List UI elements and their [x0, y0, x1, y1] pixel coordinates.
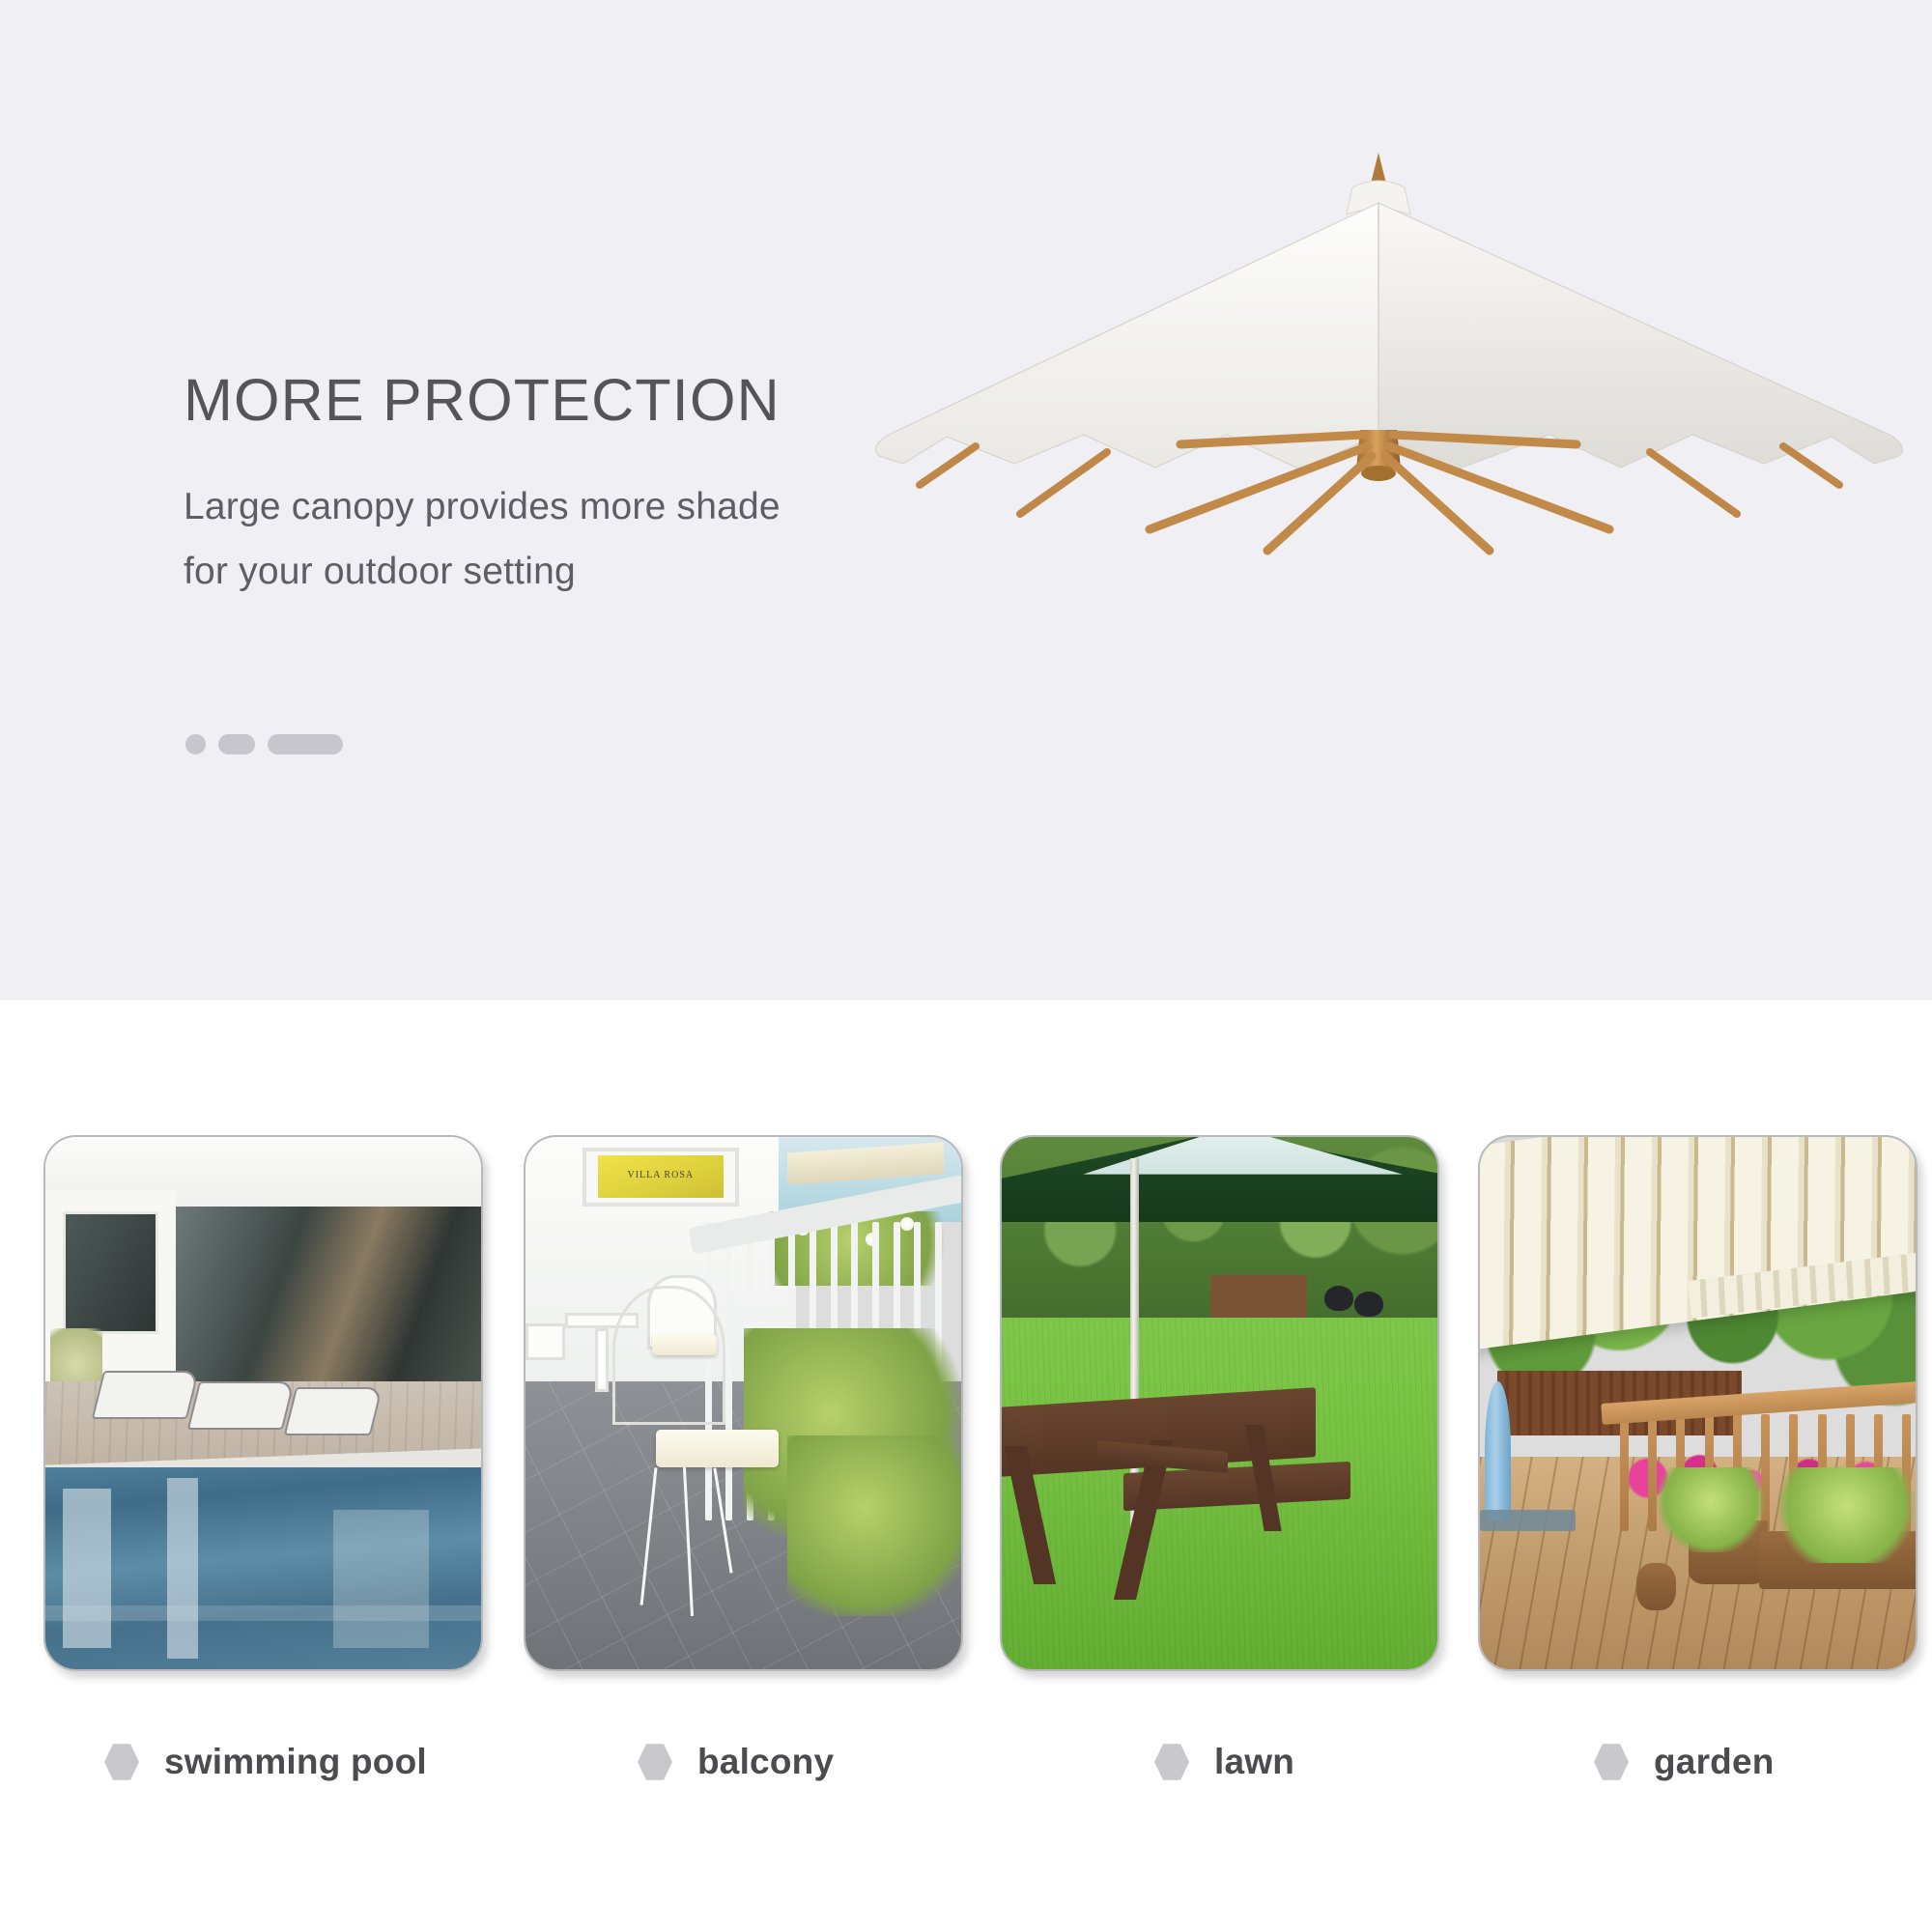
scene-lawn: [1002, 1137, 1437, 1669]
product-umbrella-image: [831, 145, 1932, 1000]
hexagon-bullet-icon: [638, 1743, 672, 1781]
gallery-photo-balcony[interactable]: VILLA ROSA: [524, 1135, 963, 1671]
balcony-art-caption: VILLA ROSA: [598, 1170, 724, 1180]
pagination-dot-2[interactable]: [218, 734, 255, 754]
gallery-label-balcony: balcony: [638, 1742, 834, 1782]
gallery-photo-garden[interactable]: [1478, 1135, 1918, 1671]
hero-section: MORE PROTECTION Large canopy provides mo…: [0, 0, 1932, 1000]
hexagon-bullet-icon: [1154, 1743, 1189, 1781]
gallery-label-lawn: lawn: [1154, 1742, 1294, 1782]
gallery-label-swimming-pool: swimming pool: [104, 1742, 427, 1782]
gallery-label-text: garden: [1654, 1742, 1775, 1782]
scene-garden: [1480, 1137, 1916, 1669]
carousel-pagination[interactable]: [185, 734, 343, 754]
scene-balcony: VILLA ROSA: [526, 1137, 961, 1669]
gallery-label-text: swimming pool: [164, 1742, 427, 1782]
pagination-dot-3[interactable]: [268, 734, 343, 754]
use-case-gallery: VILLA ROSA: [0, 1000, 1932, 1932]
scene-swimming-pool: [45, 1137, 481, 1669]
gallery-label-garden: garden: [1594, 1742, 1775, 1782]
gallery-label-text: lawn: [1214, 1742, 1294, 1782]
umbrella-finial: [1371, 153, 1386, 184]
balcony-chair-cushion: [656, 1430, 778, 1467]
gallery-photo-lawn[interactable]: [1000, 1135, 1439, 1671]
umbrella-canopy: [831, 145, 1932, 686]
hexagon-bullet-icon: [1594, 1743, 1629, 1781]
balcony-picture-frame: VILLA ROSA: [582, 1148, 739, 1207]
hexagon-bullet-icon: [104, 1743, 139, 1781]
pagination-dot-1[interactable]: [185, 734, 206, 754]
gallery-label-text: balcony: [697, 1742, 834, 1782]
garden-patio-umbrella: [1485, 1381, 1511, 1520]
gallery-photo-swimming-pool[interactable]: [43, 1135, 483, 1671]
